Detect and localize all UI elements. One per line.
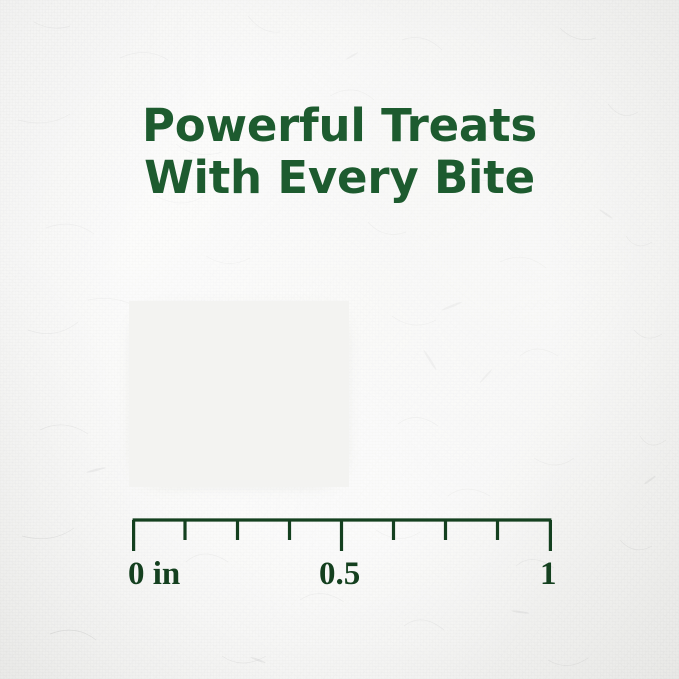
ruler-label-half: 0.5 xyxy=(319,554,360,594)
ruler-label-zero: 0 in xyxy=(128,554,180,594)
scale-ruler xyxy=(131,518,553,558)
dog-treat-kibble xyxy=(133,305,343,481)
page-title-line-2: With Every Bite xyxy=(0,152,679,204)
page-title-line-1: Powerful Treats xyxy=(0,100,679,152)
ruler-label-group: 0 in 0.5 1 xyxy=(0,554,679,598)
ruler-label-one: 1 xyxy=(540,554,557,594)
treat-pit-texture xyxy=(133,305,343,481)
page-title: Powerful Treats With Every Bite xyxy=(0,100,679,204)
product-infographic: Powerful Treats With Every Bite xyxy=(0,0,679,679)
product-image xyxy=(131,303,347,485)
